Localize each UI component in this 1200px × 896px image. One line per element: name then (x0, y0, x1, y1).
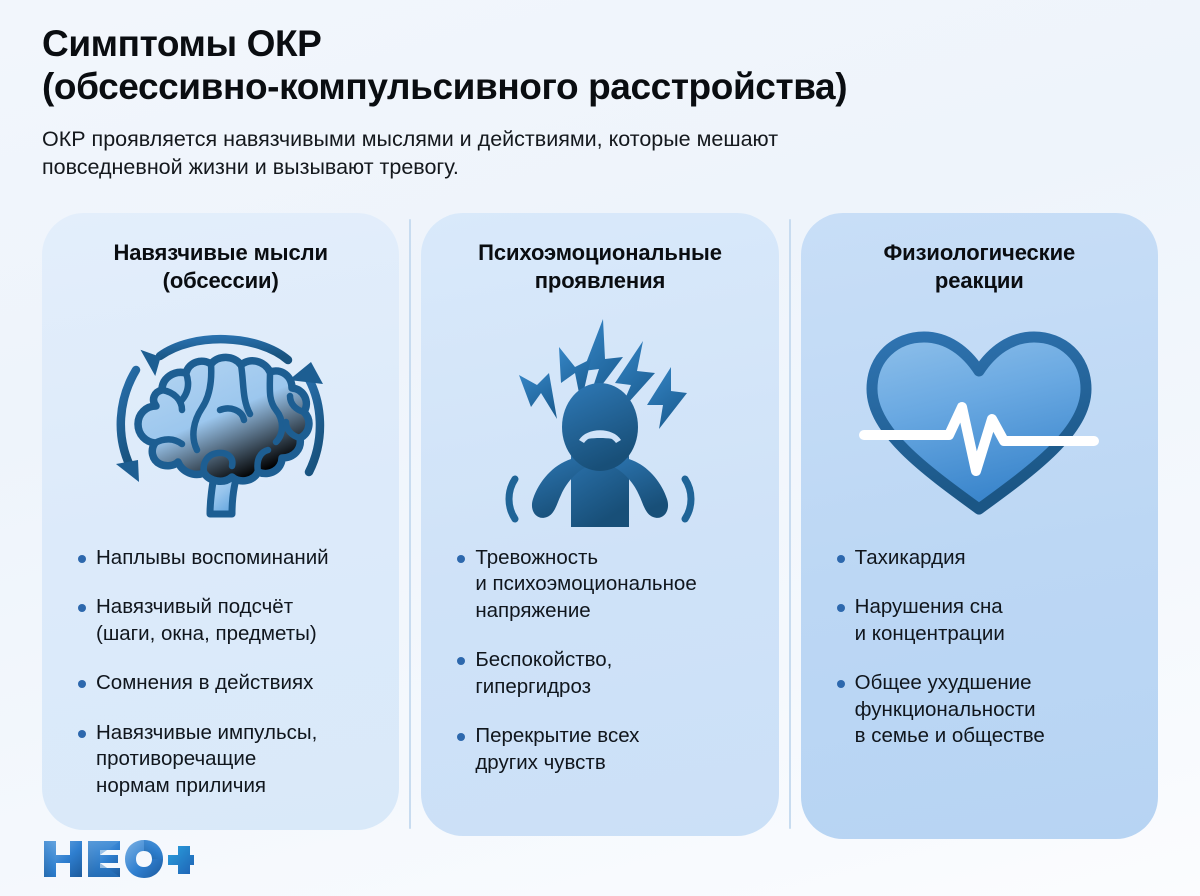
bullet-dot-icon (78, 730, 86, 738)
list-item: Перекрытие всех других чувств (457, 723, 752, 776)
symptom-cards-row: Навязчивые мысли (обсессии) (42, 213, 1158, 839)
card-title-obsessions: Навязчивые мысли (обсессии) (64, 239, 377, 297)
bullet-text: Перекрытие всех других чувств (475, 723, 639, 776)
page-title: Симптомы ОКР (обсессивно-компульсивного … (42, 22, 1160, 109)
bullet-text: Тахикардия (855, 545, 966, 571)
bullet-dot-icon (837, 680, 845, 688)
card-obsessions: Навязчивые мысли (обсессии) (42, 213, 399, 830)
card-divider (409, 219, 411, 829)
list-item: Тахикардия (837, 545, 1132, 571)
bullet-dot-icon (457, 657, 465, 665)
list-item: Тревожность и психоэмоциональное напряже… (457, 545, 752, 624)
bullet-dot-icon (457, 555, 465, 563)
page-subtitle: ОКР проявляется навязчивыми мыслями и де… (42, 125, 1087, 182)
bullet-text: Беспокойство, гипергидроз (475, 647, 612, 700)
bullet-text: Тревожность и психоэмоциональное напряже… (475, 545, 696, 624)
bullet-text: Нарушения сна и концентрации (855, 594, 1005, 647)
list-item: Общее ухудшение функциональности в семье… (837, 670, 1132, 749)
bullet-list-physiological: Тахикардия Нарушения сна и концентрации … (823, 545, 1136, 750)
bullet-dot-icon (78, 555, 86, 563)
brand-logo: НЕО+ (42, 838, 194, 880)
card-title-physiological: Физиологические реакции (823, 239, 1136, 297)
list-item: Наплывы воспоминаний (78, 545, 373, 571)
bullet-dot-icon (78, 604, 86, 612)
bullet-list-psychoemotional: Тревожность и психоэмоциональное напряже… (443, 545, 756, 776)
stressed-person-icon (443, 297, 756, 545)
bullet-text: Сомнения в действиях (96, 670, 313, 696)
list-item: Беспокойство, гипергидроз (457, 647, 752, 700)
bullet-dot-icon (837, 604, 845, 612)
bullet-text: Наплывы воспоминаний (96, 545, 329, 571)
bullet-text: Навязчивые импульсы, противоречащие норм… (96, 720, 317, 799)
bullet-list-obsessions: Наплывы воспоминаний Навязчивый подсчёт … (64, 545, 377, 799)
list-item: Нарушения сна и концентрации (837, 594, 1132, 647)
heart-pulse-icon (823, 297, 1136, 545)
bullet-dot-icon (457, 733, 465, 741)
list-item: Навязчивые импульсы, противоречащие норм… (78, 720, 373, 799)
bullet-dot-icon (78, 680, 86, 688)
card-physiological: Физиологические реакции (801, 213, 1158, 839)
brain-cycle-icon (64, 297, 377, 545)
page-header: Симптомы ОКР (обсессивно-компульсивного … (0, 0, 1200, 182)
card-divider (789, 219, 791, 829)
bullet-dot-icon (837, 555, 845, 563)
bullet-text: Общее ухудшение функциональности в семье… (855, 670, 1045, 749)
card-title-psychoemotional: Психоэмоциональные проявления (443, 239, 756, 297)
card-psychoemotional: Психоэмоциональные проявления (421, 213, 778, 836)
list-item: Навязчивый подсчёт (шаги, окна, предметы… (78, 594, 373, 647)
list-item: Сомнения в действиях (78, 670, 373, 696)
bullet-text: Навязчивый подсчёт (шаги, окна, предметы… (96, 594, 317, 647)
